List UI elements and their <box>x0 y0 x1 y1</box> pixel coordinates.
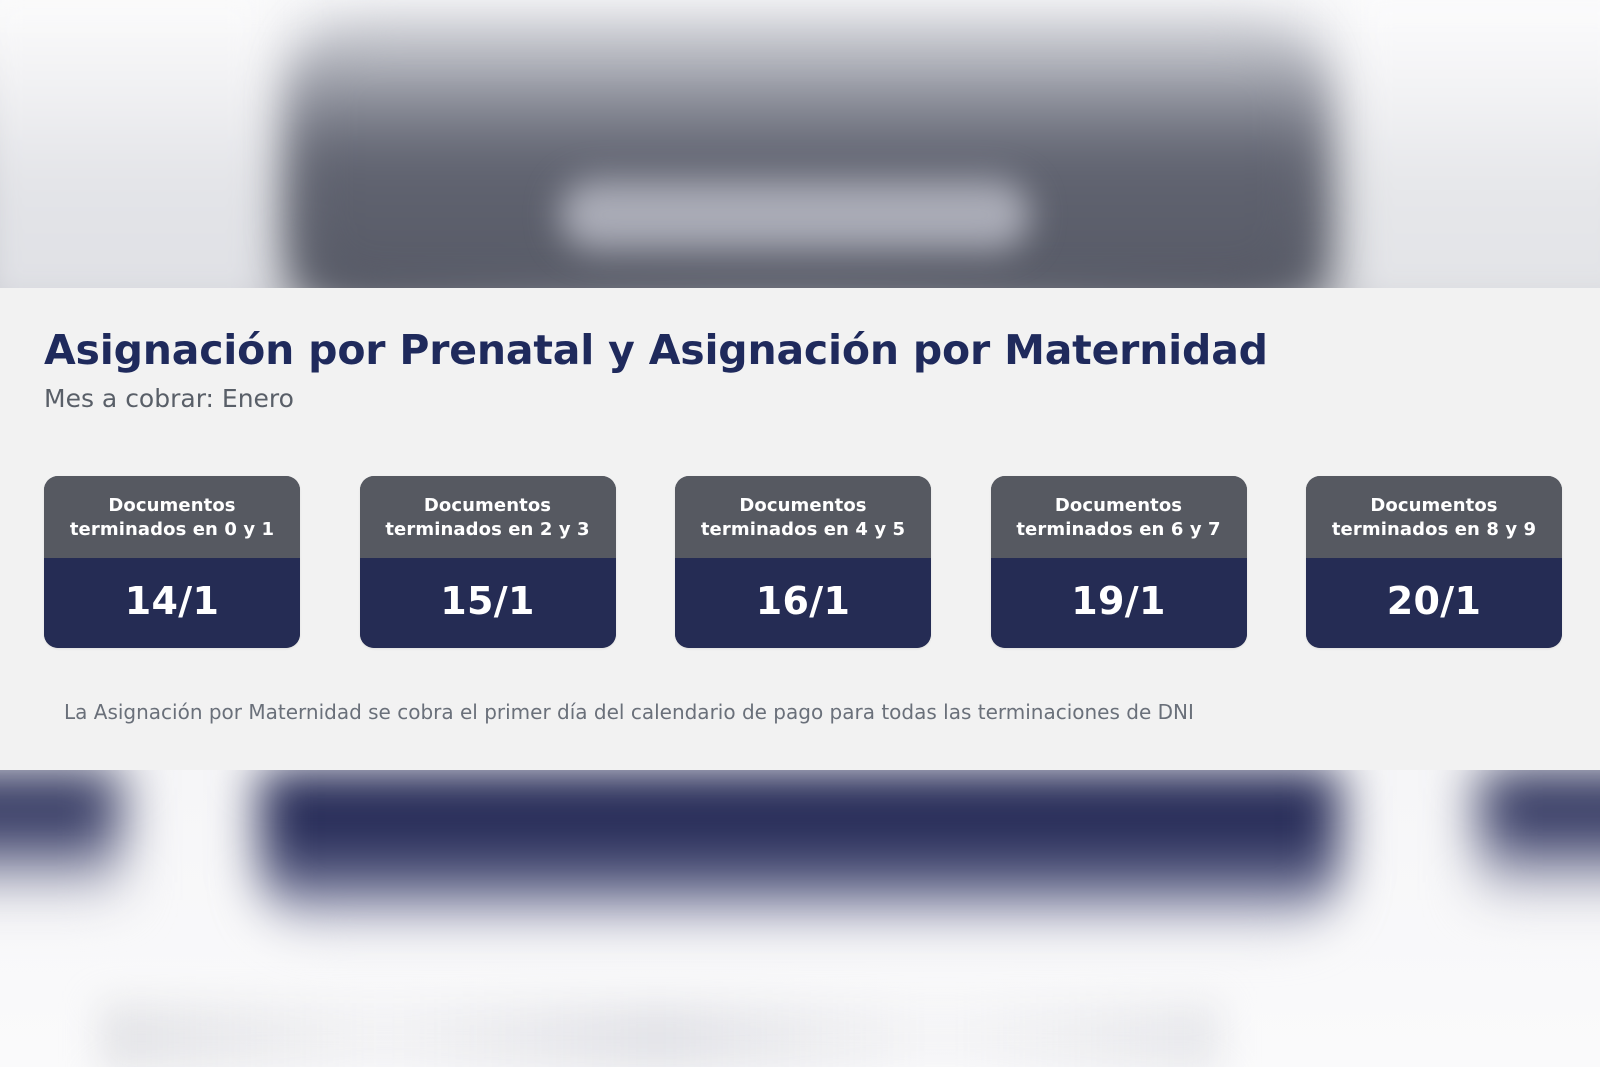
card-head-line1: Documentos <box>1314 494 1554 518</box>
panel-content: Asignación por Prenatal y Asignación por… <box>0 288 1600 770</box>
card-head-line1: Documentos <box>368 494 608 518</box>
payment-calendar-panel: Asignación por Prenatal y Asignación por… <box>0 288 1600 770</box>
background-bottom-left-band <box>0 770 120 900</box>
payment-card-header: Documentos terminados en 0 y 1 <box>44 476 300 558</box>
background-bottom-band <box>260 770 1340 930</box>
card-head-line2: terminados en 0 y 1 <box>52 518 292 542</box>
background-bottom-blur <box>0 768 1600 1067</box>
card-head-line2: terminados en 6 y 7 <box>999 518 1239 542</box>
payment-card-2-3[interactable]: Documentos terminados en 2 y 3 15/1 <box>360 476 616 648</box>
payment-card-8-9[interactable]: Documentos terminados en 8 y 9 20/1 <box>1306 476 1562 648</box>
page-title: Asignación por Prenatal y Asignación por… <box>44 328 1560 372</box>
card-head-line2: terminados en 8 y 9 <box>1314 518 1554 542</box>
payment-card-date: 14/1 <box>44 558 300 648</box>
payment-card-date: 15/1 <box>360 558 616 648</box>
card-head-line2: terminados en 2 y 3 <box>368 518 608 542</box>
payment-card-header: Documentos terminados en 2 y 3 <box>360 476 616 558</box>
card-head-line1: Documentos <box>999 494 1239 518</box>
payment-card-header: Documentos terminados en 6 y 7 <box>991 476 1247 558</box>
payment-month-label: Mes a cobrar: Enero <box>44 385 1560 413</box>
payment-cards-row: Documentos terminados en 0 y 1 14/1 Docu… <box>44 476 1562 648</box>
payment-card-0-1[interactable]: Documentos terminados en 0 y 1 14/1 <box>44 476 300 648</box>
payment-card-4-5[interactable]: Documentos terminados en 4 y 5 16/1 <box>675 476 931 648</box>
background-top-right-blur <box>1330 0 1600 330</box>
maternity-footnote: La Asignación por Maternidad se cobra el… <box>64 700 1194 724</box>
background-bottom-right-band <box>1480 770 1600 900</box>
payment-card-date: 16/1 <box>675 558 931 648</box>
payment-card-date: 20/1 <box>1306 558 1562 648</box>
payment-card-6-7[interactable]: Documentos terminados en 6 y 7 19/1 <box>991 476 1247 648</box>
card-head-line2: terminados en 4 y 5 <box>683 518 923 542</box>
background-bottom-smudge <box>100 1003 1220 1067</box>
payment-card-header: Documentos terminados en 4 y 5 <box>675 476 931 558</box>
background-top-left-blur <box>0 0 290 330</box>
card-head-line1: Documentos <box>52 494 292 518</box>
background-top-card-blur <box>300 24 1310 300</box>
background-top-text-blur <box>560 180 1030 250</box>
card-head-line1: Documentos <box>683 494 923 518</box>
payment-card-header: Documentos terminados en 8 y 9 <box>1306 476 1562 558</box>
payment-card-date: 19/1 <box>991 558 1247 648</box>
